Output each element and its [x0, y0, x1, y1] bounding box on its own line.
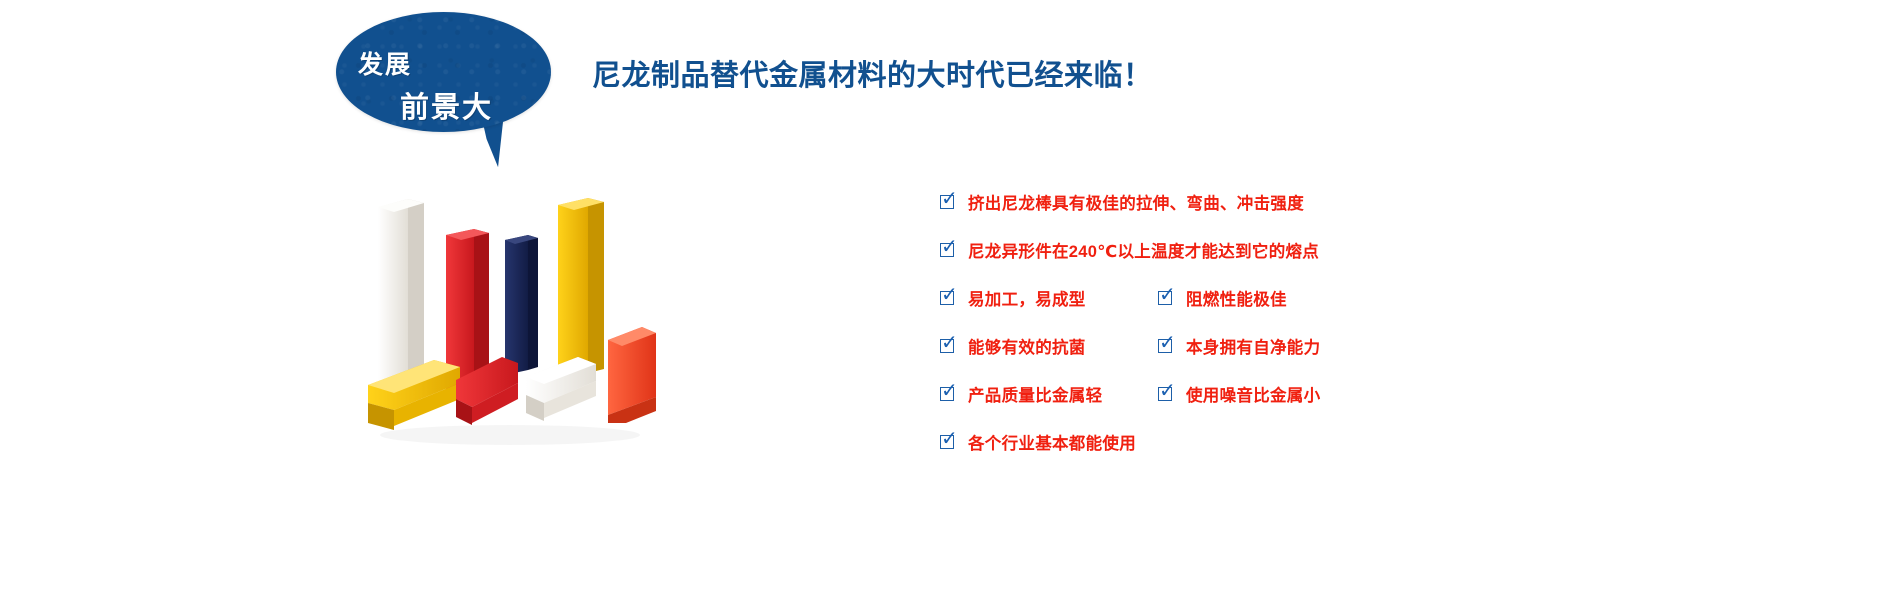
product-photo	[350, 185, 700, 465]
feature-row: ✓ 产品质量比金属轻 ✓ 使用噪音比金属小	[940, 382, 1640, 430]
checkbox-checked-icon: ✓	[940, 386, 957, 403]
checkbox-checked-icon: ✓	[940, 434, 957, 451]
feature-item: ✓ 产品质量比金属轻	[940, 382, 1102, 406]
checkbox-checked-icon: ✓	[940, 242, 957, 259]
feature-label: 易加工，易成型	[968, 286, 1086, 310]
bubble-line-1: 发展	[358, 45, 412, 81]
speech-bubble: 发展 前景大	[336, 12, 636, 192]
feature-row: ✓ 能够有效的抗菌 ✓ 本身拥有自净能力	[940, 334, 1640, 382]
checkbox-checked-icon: ✓	[940, 194, 957, 211]
feature-item: ✓ 易加工，易成型	[940, 286, 1086, 310]
checkbox-checked-icon: ✓	[1158, 386, 1175, 403]
feature-row: ✓ 尼龙异形件在240℃以上温度才能达到它的熔点	[940, 238, 1640, 286]
feature-item: ✓ 各个行业基本都能使用	[940, 430, 1136, 454]
nylon-profiles-illustration	[350, 185, 700, 465]
checkbox-checked-icon: ✓	[1158, 338, 1175, 355]
feature-item: ✓ 挤出尼龙棒具有极佳的拉伸、弯曲、冲击强度	[940, 190, 1304, 214]
feature-item: ✓ 使用噪音比金属小	[1158, 382, 1320, 406]
feature-item: ✓ 尼龙异形件在240℃以上温度才能达到它的熔点	[940, 238, 1319, 262]
checkbox-checked-icon: ✓	[1158, 290, 1175, 307]
feature-label: 能够有效的抗菌	[968, 334, 1086, 358]
feature-label: 尼龙异形件在240℃以上温度才能达到它的熔点	[968, 238, 1319, 262]
feature-row: ✓ 易加工，易成型 ✓ 阻燃性能极佳	[940, 286, 1640, 334]
feature-row: ✓ 挤出尼龙棒具有极佳的拉伸、弯曲、冲击强度	[940, 190, 1640, 238]
promo-banner: 发展 前景大 尼龙制品替代金属材料的大时代已经来临！	[0, 0, 1902, 592]
checkbox-checked-icon: ✓	[940, 338, 957, 355]
feature-label: 本身拥有自净能力	[1186, 334, 1320, 358]
feature-item: ✓ 能够有效的抗菌	[940, 334, 1086, 358]
feature-label: 挤出尼龙棒具有极佳的拉伸、弯曲、冲击强度	[968, 190, 1304, 214]
headline: 尼龙制品替代金属材料的大时代已经来临！	[592, 52, 1153, 94]
feature-label: 产品质量比金属轻	[968, 382, 1102, 406]
checkbox-checked-icon: ✓	[940, 290, 957, 307]
feature-label: 使用噪音比金属小	[1186, 382, 1320, 406]
feature-item: ✓ 本身拥有自净能力	[1158, 334, 1320, 358]
bubble-line-2: 前景大	[400, 84, 493, 126]
feature-item: ✓ 阻燃性能极佳	[1158, 286, 1287, 310]
feature-row: ✓ 各个行业基本都能使用	[940, 430, 1640, 478]
feature-label: 阻燃性能极佳	[1186, 286, 1287, 310]
feature-label: 各个行业基本都能使用	[968, 430, 1136, 454]
feature-list: ✓ 挤出尼龙棒具有极佳的拉伸、弯曲、冲击强度 ✓ 尼龙异形件在240℃以上温度才…	[940, 190, 1640, 478]
